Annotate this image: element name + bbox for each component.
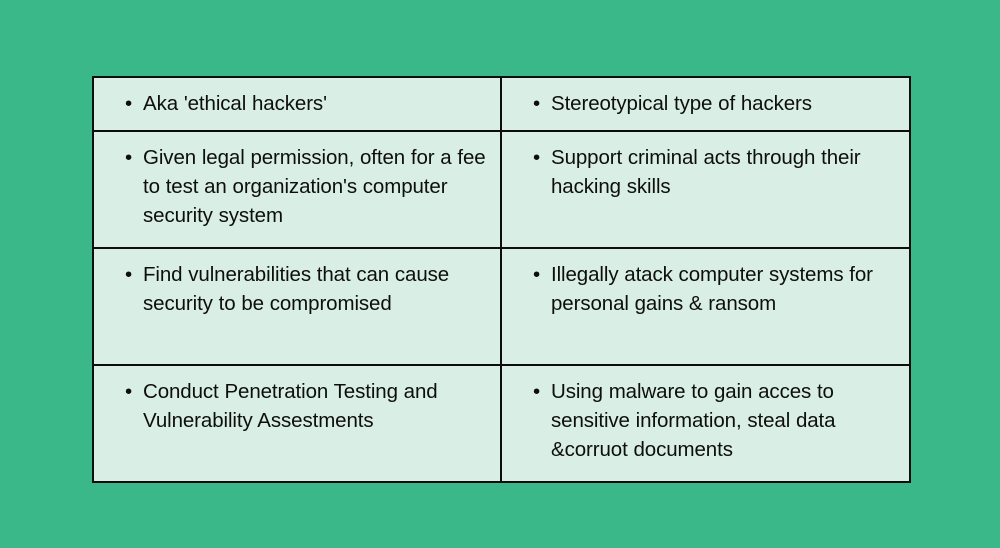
table-row: • Given legal permission, often for a fe… (93, 131, 910, 248)
bullet-list: • Stereotypical type of hackers (516, 89, 895, 118)
list-item: • Illegally atack computer systems for p… (516, 260, 895, 318)
bullet-icon: • (125, 89, 132, 118)
list-item-label: Aka 'ethical hackers' (143, 92, 327, 115)
list-item: • Support criminal acts through their ha… (516, 143, 895, 201)
bullet-list: • Using malware to gain acces to sensiti… (516, 377, 895, 464)
table-cell-right-2[interactable]: • Support criminal acts through their ha… (501, 131, 910, 248)
table-row: • Find vulnerabilities that can cause se… (93, 248, 910, 365)
table-cell-left-1[interactable]: • Aka 'ethical hackers' (93, 77, 501, 131)
bullet-icon: • (125, 260, 132, 289)
cell-content: • Using malware to gain acces to sensiti… (502, 366, 909, 476)
cell-content: • Aka 'ethical hackers' (94, 78, 500, 130)
bullet-list: • Support criminal acts through their ha… (516, 143, 895, 201)
list-item: • Find vulnerabilities that can cause se… (108, 260, 486, 318)
bullet-icon: • (125, 377, 132, 406)
bullet-list: • Find vulnerabilities that can cause se… (108, 260, 486, 318)
list-item-label: Using malware to gain acces to sensitive… (551, 380, 835, 461)
bullet-icon: • (125, 143, 132, 172)
table-cell-right-4[interactable]: • Using malware to gain acces to sensiti… (501, 365, 910, 482)
table-row: • Aka 'ethical hackers' • Stereotypical … (93, 77, 910, 131)
list-item: • Aka 'ethical hackers' (108, 89, 486, 118)
comparison-table: • Aka 'ethical hackers' • Stereotypical … (92, 76, 911, 483)
cell-content: • Given legal permission, often for a fe… (94, 132, 500, 242)
list-item: • Given legal permission, often for a fe… (108, 143, 486, 230)
bullet-icon: • (533, 377, 540, 406)
cell-content: • Find vulnerabilities that can cause se… (94, 249, 500, 330)
cell-content: • Illegally atack computer systems for p… (502, 249, 909, 330)
table-cell-left-4[interactable]: • Conduct Penetration Testing and Vulner… (93, 365, 501, 482)
table-cell-right-1[interactable]: • Stereotypical type of hackers (501, 77, 910, 131)
bullet-icon: • (533, 143, 540, 172)
table-cell-right-3[interactable]: • Illegally atack computer systems for p… (501, 248, 910, 365)
bullet-list: • Illegally atack computer systems for p… (516, 260, 895, 318)
list-item-label: Support criminal acts through their hack… (551, 146, 861, 198)
list-item: • Stereotypical type of hackers (516, 89, 895, 118)
table-row: • Conduct Penetration Testing and Vulner… (93, 365, 910, 482)
cell-content: • Stereotypical type of hackers (502, 78, 909, 130)
bullet-icon: • (533, 89, 540, 118)
slide-canvas: • Aka 'ethical hackers' • Stereotypical … (0, 0, 1000, 548)
list-item-label: Given legal permission, often for a fee … (143, 146, 486, 227)
bullet-list: • Aka 'ethical hackers' (108, 89, 486, 118)
table-cell-left-3[interactable]: • Find vulnerabilities that can cause se… (93, 248, 501, 365)
cell-content: • Conduct Penetration Testing and Vulner… (94, 366, 500, 447)
bullet-icon: • (533, 260, 540, 289)
table-cell-left-2[interactable]: • Given legal permission, often for a fe… (93, 131, 501, 248)
list-item-label: Conduct Penetration Testing and Vulnerab… (143, 380, 438, 432)
list-item: • Using malware to gain acces to sensiti… (516, 377, 895, 464)
list-item-label: Find vulnerabilities that can cause secu… (143, 263, 449, 315)
bullet-list: • Conduct Penetration Testing and Vulner… (108, 377, 486, 435)
list-item-label: Stereotypical type of hackers (551, 92, 812, 115)
list-item-label: Illegally atack computer systems for per… (551, 263, 873, 315)
list-item: • Conduct Penetration Testing and Vulner… (108, 377, 486, 435)
cell-content: • Support criminal acts through their ha… (502, 132, 909, 213)
bullet-list: • Given legal permission, often for a fe… (108, 143, 486, 230)
